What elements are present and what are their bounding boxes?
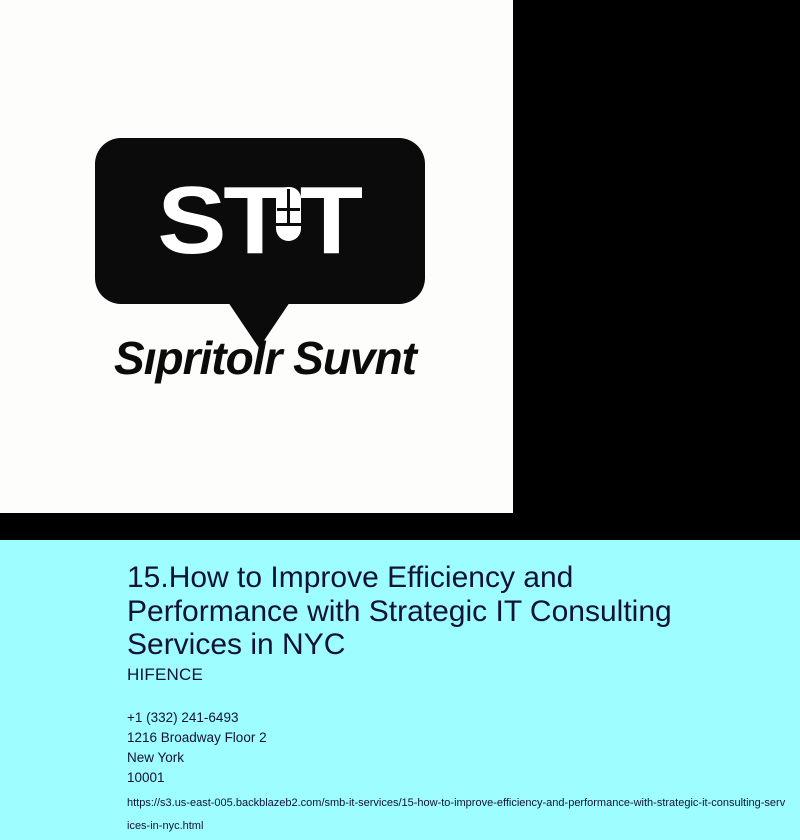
page-title: 15.How to Improve Efficiency and Perform… — [127, 561, 747, 662]
brand-name: HIFENCE — [127, 665, 203, 685]
contact-city: New York — [127, 748, 767, 768]
computer-mouse-icon — [276, 187, 301, 241]
contact-phone: +1 (332) 241-6493 — [127, 708, 767, 728]
mouse-divider-vertical — [287, 189, 290, 223]
logo-stage: ST T Sıpritolr Suvnt — [0, 0, 800, 540]
logo-letters-left: ST — [158, 173, 284, 269]
info-card: 15.How to Improve Efficiency and Perform… — [0, 540, 800, 840]
mouse-lower-gap — [276, 223, 301, 226]
source-url[interactable]: https://s3.us-east-005.backblazeb2.com/s… — [127, 792, 787, 838]
logo-tagline: Sıpritolr Suvnt — [60, 334, 470, 382]
logo-letters-right: T — [300, 173, 360, 269]
logo-panel: ST T Sıpritolr Suvnt — [0, 0, 513, 513]
contact-block: +1 (332) 241-6493 1216 Broadway Floor 2 … — [127, 708, 767, 788]
logo-wordmark: ST T — [95, 138, 425, 304]
mouse-divider-horizontal — [277, 208, 300, 211]
contact-zip: 10001 — [127, 768, 767, 788]
contact-street: 1216 Broadway Floor 2 — [127, 728, 767, 748]
